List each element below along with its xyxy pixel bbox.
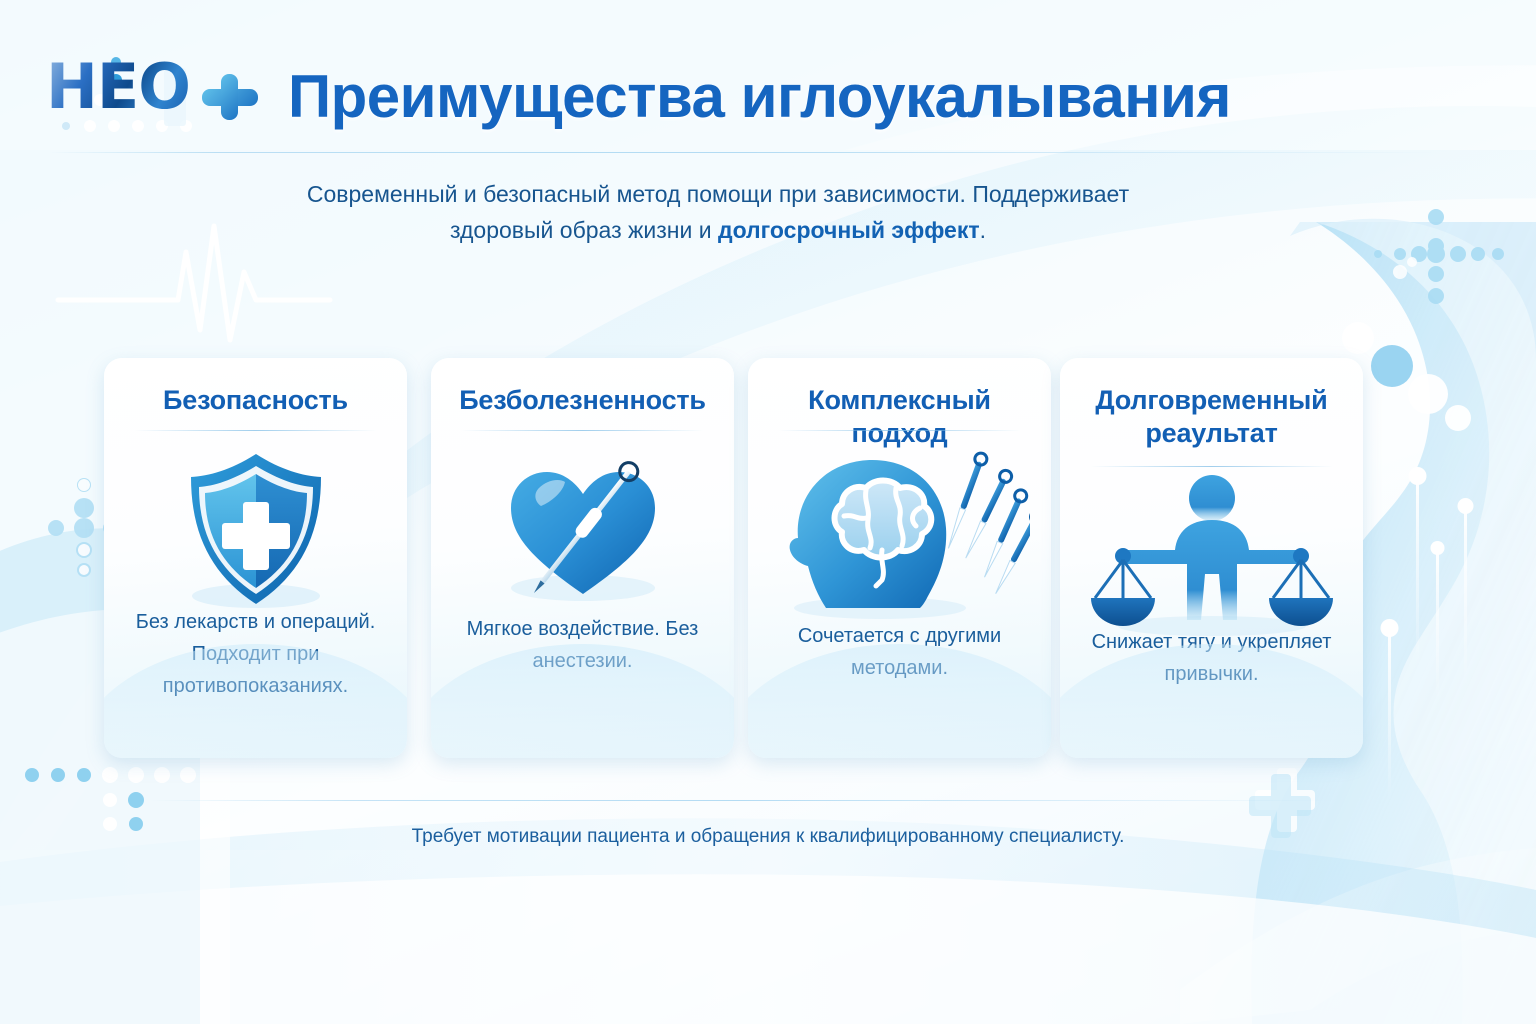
card-title-painless: Безболезненность	[441, 384, 724, 417]
dot-cross-top-right	[1374, 209, 1504, 304]
footer-note: Требует мотивации пациента и обращения к…	[268, 826, 1268, 848]
benefit-card-safety[interactable]: Безопасность	[104, 358, 407, 758]
card-title-longterm: Долговременный реаультат	[1070, 384, 1353, 450]
benefit-cards: Безопасность	[104, 358, 1366, 758]
logo-wordmark: НЕО	[46, 56, 190, 118]
benefit-card-painless[interactable]: Безболезненность	[431, 358, 734, 758]
dot-row-bottom-left	[25, 767, 196, 831]
subtitle-emphasis: долгосрочный эффект	[718, 217, 980, 243]
head-brain-needles-icon	[748, 446, 1051, 636]
card-divider	[461, 430, 704, 431]
card-body-complex: Сочетается с другими методами.	[762, 620, 1037, 684]
card-divider	[134, 430, 377, 431]
benefit-card-complex[interactable]: Комплексный подход	[748, 358, 1051, 758]
card-title-complex: Комплексный подход	[758, 384, 1041, 450]
logo-plus-icon	[202, 74, 258, 120]
subtitle-text-2: .	[980, 217, 986, 243]
benefit-card-longterm[interactable]: Долговременный реаультат	[1060, 358, 1363, 758]
infographic-canvas: НЕО Преимущества иглоукалывания Современ…	[0, 0, 1536, 1024]
page-title: Преимущества иглоукалывания	[288, 57, 1288, 137]
header-divider	[48, 152, 1438, 153]
card-divider	[778, 430, 1021, 431]
card-body-longterm: Снижает тягу и укрепляет привычки.	[1074, 626, 1349, 690]
brand-logo[interactable]: НЕО	[46, 52, 258, 138]
person-scales-icon	[1060, 470, 1363, 636]
page-subtitle: Современный и безопасный метод помощи пр…	[268, 176, 1168, 248]
footer-divider	[150, 800, 1330, 801]
card-divider	[1090, 466, 1333, 467]
card-body-painless: Мягкое воздействие. Без анестезии.	[445, 613, 720, 677]
card-body-safety: Без лекарств и операций. Подходит при пр…	[118, 606, 393, 702]
card-title-safety: Безопасность	[114, 384, 397, 417]
heart-needle-icon	[431, 446, 734, 636]
